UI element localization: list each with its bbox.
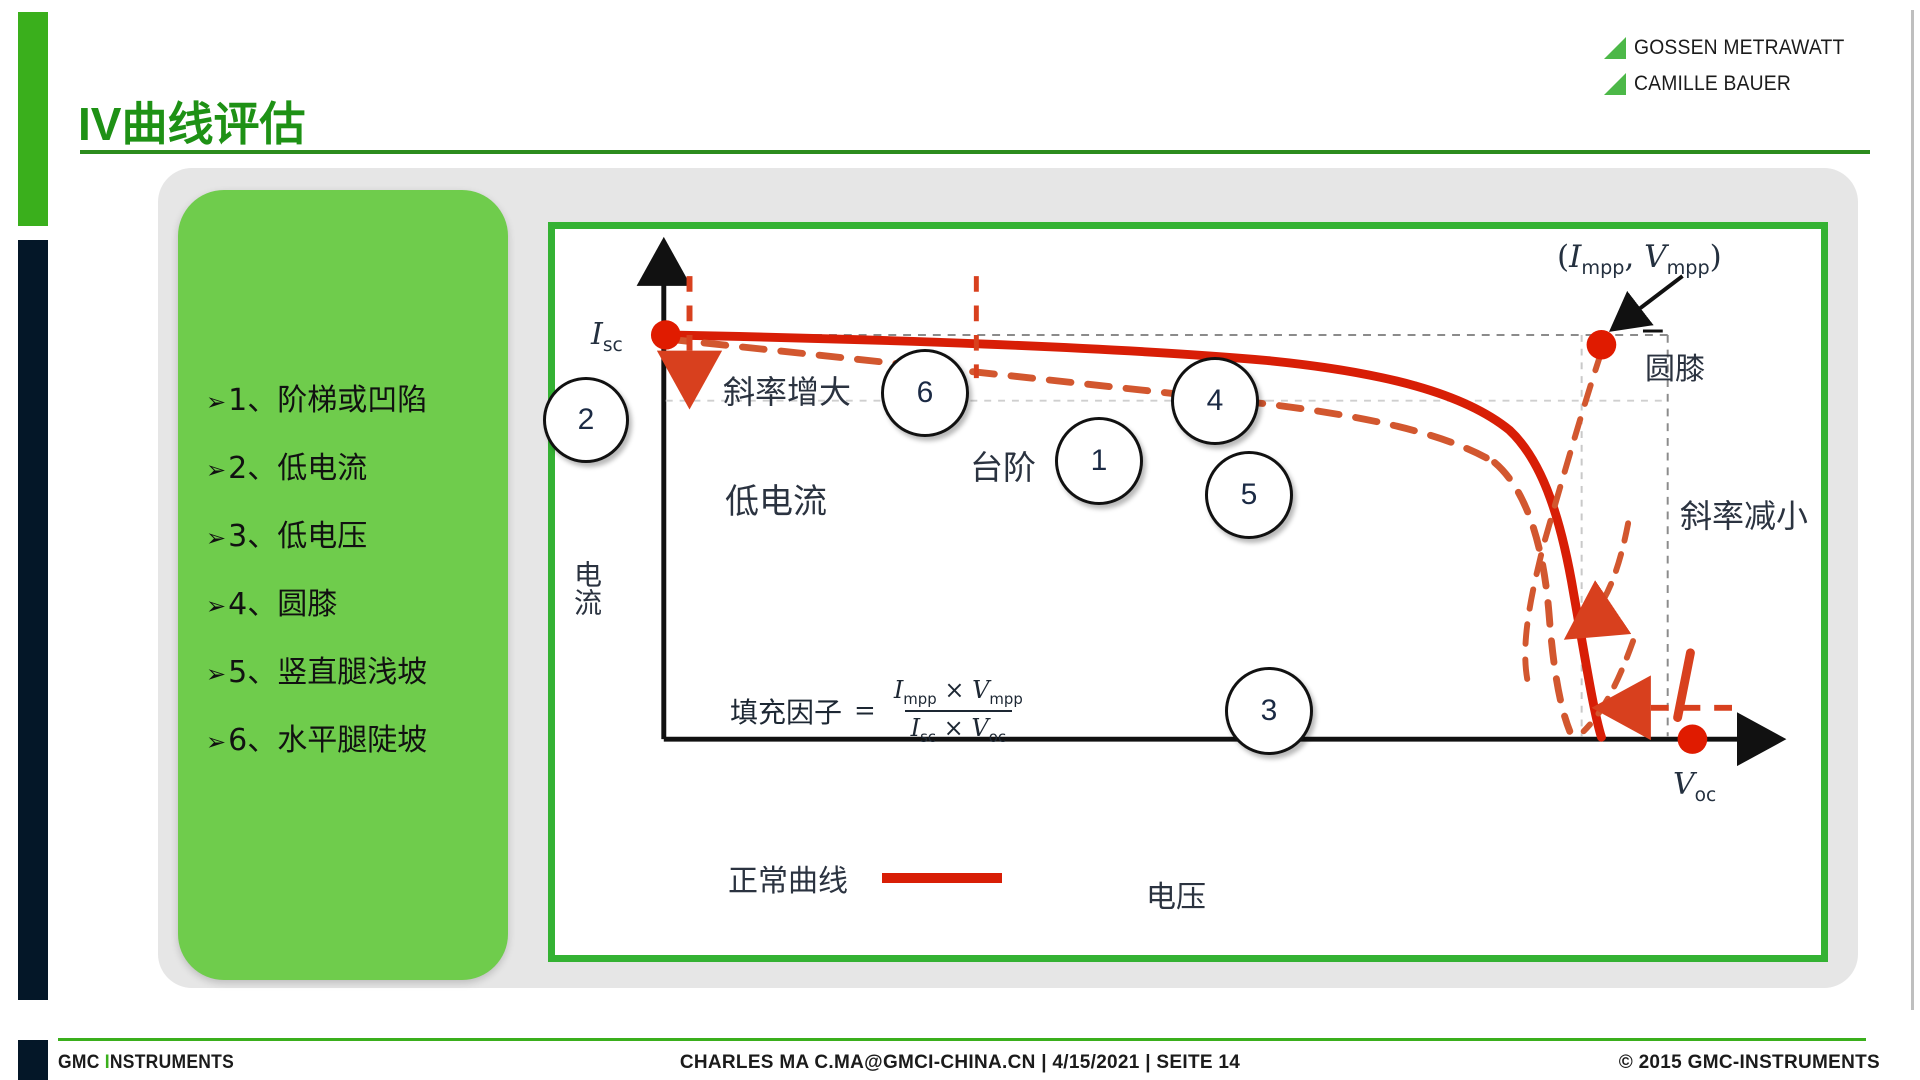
label-voc: Voc: [1673, 767, 1716, 806]
bullet-card: ➢ 1、阶梯或凹陷 ➢ 2、低电流 ➢ 3、低电压 ➢ 4、圆膝 ➢ 5、竖直腿…: [178, 190, 508, 980]
arrow-bullet-icon: ➢: [206, 662, 226, 686]
list-item-label: 3、低电压: [228, 511, 367, 555]
annotation-slope-down: 斜率减小: [1680, 491, 1808, 537]
formula-equals: =: [854, 696, 876, 726]
arrow-bullet-icon: ➢: [206, 594, 226, 618]
badge-2[interactable]: 2: [543, 377, 629, 463]
label-mpp: (Impp, Vmpp): [1557, 239, 1722, 279]
badge-1[interactable]: 1: [1055, 417, 1143, 505]
triangle-icon: [1602, 71, 1628, 97]
accent-bar-navy: [18, 240, 48, 1000]
footer-copyright: © 2015 GMC-INSTRUMENTS: [1619, 1052, 1880, 1074]
formula-numerator: Impp × Vmpp: [888, 676, 1029, 710]
legend-line-swatch: [882, 873, 1002, 883]
badge-4[interactable]: 4: [1171, 357, 1259, 445]
marker-voc: [1678, 724, 1708, 753]
arrow-bullet-icon: ➢: [206, 730, 226, 754]
marker-isc: [651, 320, 681, 349]
list-item: ➢ 5、竖直腿浅坡: [206, 647, 506, 691]
list-item: ➢ 6、水平腿陡坡: [206, 715, 506, 759]
brand-logo: GOSSEN METRAWATT CAMILLE BAUER: [1602, 30, 1882, 102]
fill-factor-formula: 填充因子 = Impp × Vmpp Isc × Voc: [730, 676, 1029, 746]
annotation-slope-up: 斜率增大: [723, 367, 851, 413]
formula-lhs: 填充因子: [730, 691, 842, 731]
list-item: ➢ 2、低电流: [206, 443, 506, 487]
logo-text-camille: CAMILLE BAUER: [1634, 72, 1791, 96]
x-axis-label: 电压: [1146, 872, 1206, 916]
logo-text-gossen: GOSSEN METRAWATT: [1634, 36, 1844, 60]
chart-canvas: [555, 229, 1821, 955]
annotation-step: 台阶: [970, 441, 1036, 489]
marker-mpp: [1587, 330, 1617, 359]
right-edge-rule: [1911, 10, 1914, 1010]
title-underline: [80, 150, 1870, 154]
arrow-bullet-icon: ➢: [206, 526, 226, 550]
list-item: ➢ 4、圆膝: [206, 579, 506, 623]
list-item-label: 2、低电流: [228, 443, 367, 487]
arrow-bullet-icon: ➢: [206, 390, 226, 414]
footer-rule: [58, 1038, 1866, 1041]
anomaly-curve-knee: [1525, 352, 1601, 689]
formula-denominator: Isc × Voc: [905, 710, 1012, 746]
label-isc: Isc: [591, 317, 623, 356]
legend-label: 正常曲线: [728, 856, 848, 900]
list-item-label: 4、圆膝: [228, 579, 337, 623]
badge-3[interactable]: 3: [1225, 667, 1313, 755]
logo-row-gossen: GOSSEN METRAWATT: [1602, 30, 1882, 66]
list-item: ➢ 3、低电压: [206, 511, 506, 555]
badge-6[interactable]: 6: [881, 349, 969, 437]
annotation-round-knee: 圆膝: [1645, 344, 1705, 388]
annotation-low-current: 低电流: [725, 474, 827, 523]
accent-bar-green: [18, 12, 48, 226]
y-axis-label: 电流: [566, 560, 606, 616]
page-title: IV曲线评估: [78, 88, 305, 154]
arrow-bullet-icon: ➢: [206, 458, 226, 482]
list-item-label: 1、阶梯或凹陷: [228, 375, 427, 419]
list-item: ➢ 1、阶梯或凹陷: [206, 375, 506, 419]
list-item-label: 5、竖直腿浅坡: [228, 647, 427, 691]
formula-fraction: Impp × Vmpp Isc × Voc: [888, 676, 1029, 746]
badge-5[interactable]: 5: [1205, 451, 1293, 539]
list-item-label: 6、水平腿陡坡: [228, 715, 427, 759]
triangle-icon: [1602, 35, 1628, 61]
mpp-callout-arrow: [1615, 276, 1682, 327]
iv-curve-chart: Isc Voc (Impp, Vmpp) 圆膝 低电流 斜率增大 台阶 斜率减小…: [548, 222, 1828, 962]
chart-legend: 正常曲线: [728, 856, 1002, 900]
bullet-list: ➢ 1、阶梯或凹陷 ➢ 2、低电流 ➢ 3、低电压 ➢ 4、圆膝 ➢ 5、竖直腿…: [206, 375, 506, 783]
logo-row-camille: CAMILLE BAUER: [1602, 66, 1882, 102]
